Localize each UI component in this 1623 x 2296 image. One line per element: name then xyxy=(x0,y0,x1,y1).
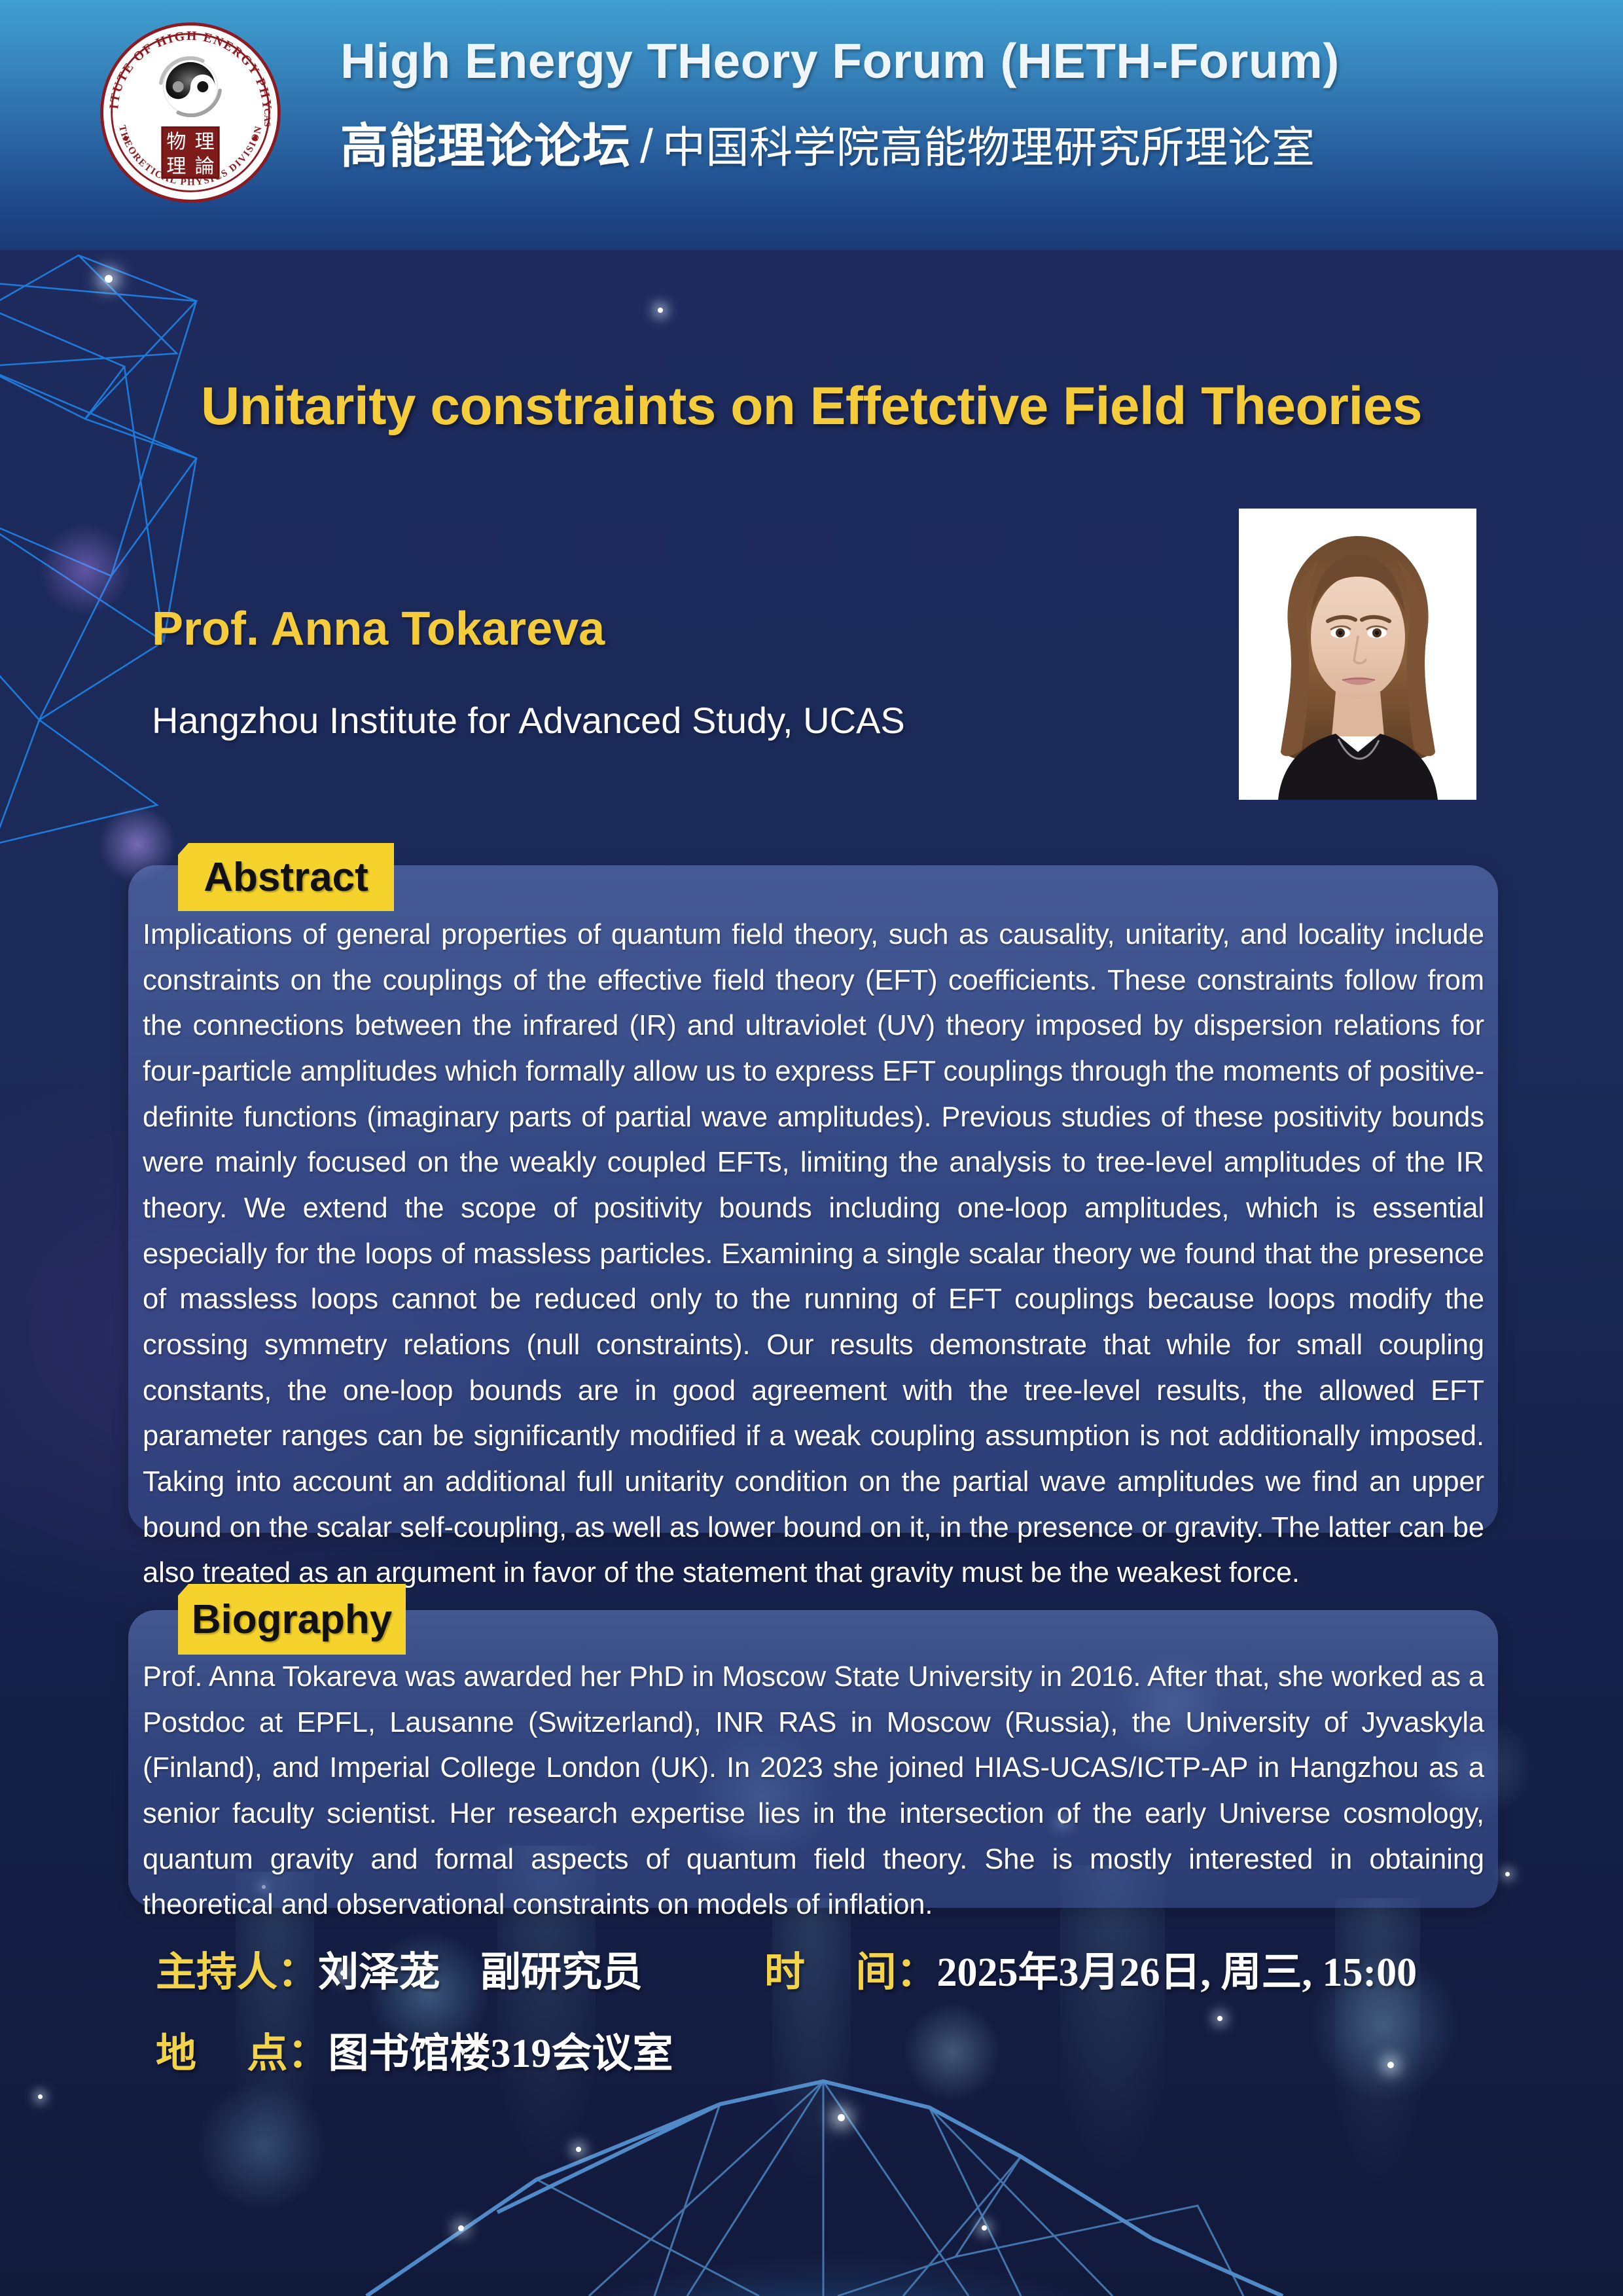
host-label: 主持人： xyxy=(156,1950,318,1995)
host-value: 刘泽茏 副研究员 xyxy=(318,1950,643,1995)
host-line: 主持人：刘泽茏 副研究员 xyxy=(156,1939,643,1998)
svg-text:理: 理 xyxy=(166,155,186,177)
biography-tag: Biography xyxy=(178,1584,406,1655)
title-separator: / xyxy=(640,120,653,173)
poster-canvas: INSTITUTE OF HIGH ENERGY PHYSICS THEORET… xyxy=(0,0,1623,2296)
speaker-photo xyxy=(1239,509,1476,800)
biography-text: Prof. Anna Tokareva was awarded her PhD … xyxy=(143,1655,1484,1928)
speaker-name: Prof. Anna Tokareva xyxy=(152,602,605,656)
poster-header: INSTITUTE OF HIGH ENERGY PHYSICS THEORET… xyxy=(0,0,1623,250)
header-title-block: High Energy THeory Forum (HETH-Forum) 高能… xyxy=(340,31,1340,177)
svg-text:CAS: CAS xyxy=(262,108,272,126)
forum-title-english: High Energy THeory Forum (HETH-Forum) xyxy=(340,31,1340,90)
time-line: 时 间：2025年3月26日, 周三, 15:00 xyxy=(764,1939,1417,1998)
talk-title: Unitarity constraints on Effetctive Fiel… xyxy=(0,376,1623,437)
svg-text:理: 理 xyxy=(195,131,215,153)
abstract-tag: Abstract xyxy=(178,843,394,911)
forum-title-chinese-row: 高能理论论坛 / 中国科学院高能物理研究所理论室 xyxy=(340,107,1340,177)
svg-text:論: 論 xyxy=(195,155,215,177)
venue-value: 图书馆楼319会议室 xyxy=(329,2032,673,2076)
time-value: 2025年3月26日, 周三, 15:00 xyxy=(937,1950,1418,1995)
venue-label: 地 点： xyxy=(156,2032,329,2076)
abstract-text: Implications of general properties of qu… xyxy=(143,912,1484,1596)
speaker-affiliation: Hangzhou Institute for Advanced Study, U… xyxy=(152,699,905,742)
forum-host-institute: 中国科学院高能物理研究所理论室 xyxy=(662,113,1315,175)
venue-line: 地 点：图书馆楼319会议室 xyxy=(156,2020,673,2079)
svg-text:物: 物 xyxy=(166,131,186,153)
forum-title-chinese: 高能理论论坛 xyxy=(340,107,631,177)
ihep-logo: INSTITUTE OF HIGH ENERGY PHYSICS THEORET… xyxy=(98,18,283,207)
time-label: 时 间： xyxy=(764,1950,937,1995)
